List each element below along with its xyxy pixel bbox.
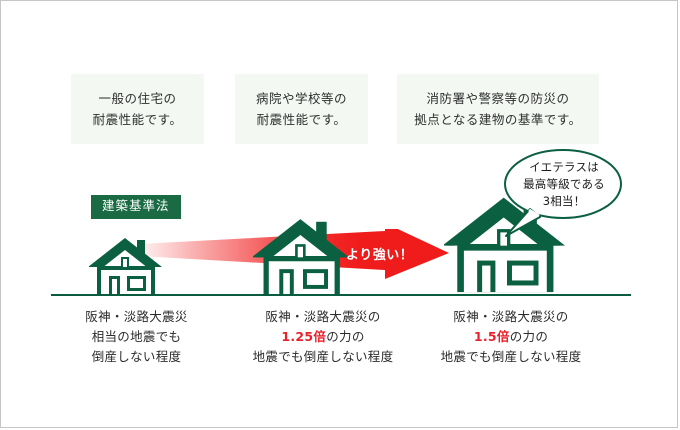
caption-highlight: 1.5倍 [474,329,510,344]
house-small [89,237,165,299]
note-line-1: 消防署や警察等の防災の [426,88,569,109]
caption-line-1: 阪神・淡路大震災 [59,307,214,327]
caption-line-2: 1.5倍の力の [416,327,606,347]
caption-line-3: 地震でも倒産しない程度 [233,347,413,367]
caption-line-2: 1.25倍の力の [233,327,413,347]
note-hospital-school: 病院や学校等の 耐震性能です。 [235,74,368,144]
house-medium-svg [253,217,353,295]
caption-highlight: 1.25倍 [281,329,326,344]
caption-line-1: 阪神・淡路大震災の [416,307,606,327]
arrow-label: より強い！ [346,244,413,263]
house-medium [253,217,353,299]
speech-bubble-text: イエテラスは 最高等級である 3相当！ [510,159,618,210]
note-line-1: 一般の住宅の [98,88,176,109]
note-general-housing: 一般の住宅の 耐震性能です。 [71,74,204,144]
caption-grade-2: 阪神・淡路大震災の 1.25倍の力の 地震でも倒産しない程度 [233,307,413,367]
ground-line [51,294,631,296]
bubble-line-1: イエテラスは [510,159,618,176]
note-line-1: 病院や学校等の [256,88,347,109]
caption-line-1: 阪神・淡路大震災の [233,307,413,327]
note-line-2: 拠点となる建物の基準です。 [414,109,581,130]
note-line-2: 耐震性能です。 [93,109,183,130]
note-line-2: 耐震性能です。 [257,109,347,130]
bubble-line-2: 最高等級である [510,176,618,193]
caption-line-2: 相当の地震でも [59,327,214,347]
caption-grade-3: 阪神・淡路大震災の 1.5倍の力の 地震でも倒産しない程度 [416,307,606,367]
caption-line-3: 倒産しない程度 [59,347,214,367]
caption-line-2-rest: の力の [326,329,364,344]
house-small-svg [89,237,165,295]
caption-line-3: 地震でも倒産しない程度 [416,347,606,367]
bubble-line-3: 3相当！ [510,193,618,210]
law-badge: 建築基準法 [91,195,181,219]
caption-line-2-rest: の力の [510,329,548,344]
caption-grade-1: 阪神・淡路大震災 相当の地震でも 倒産しない程度 [59,307,214,367]
note-fire-police: 消防署や警察等の防災の 拠点となる建物の基準です。 [397,74,599,144]
infographic-frame: 一般の住宅の 耐震性能です。 病院や学校等の 耐震性能です。 消防署や警察等の防… [0,0,678,428]
